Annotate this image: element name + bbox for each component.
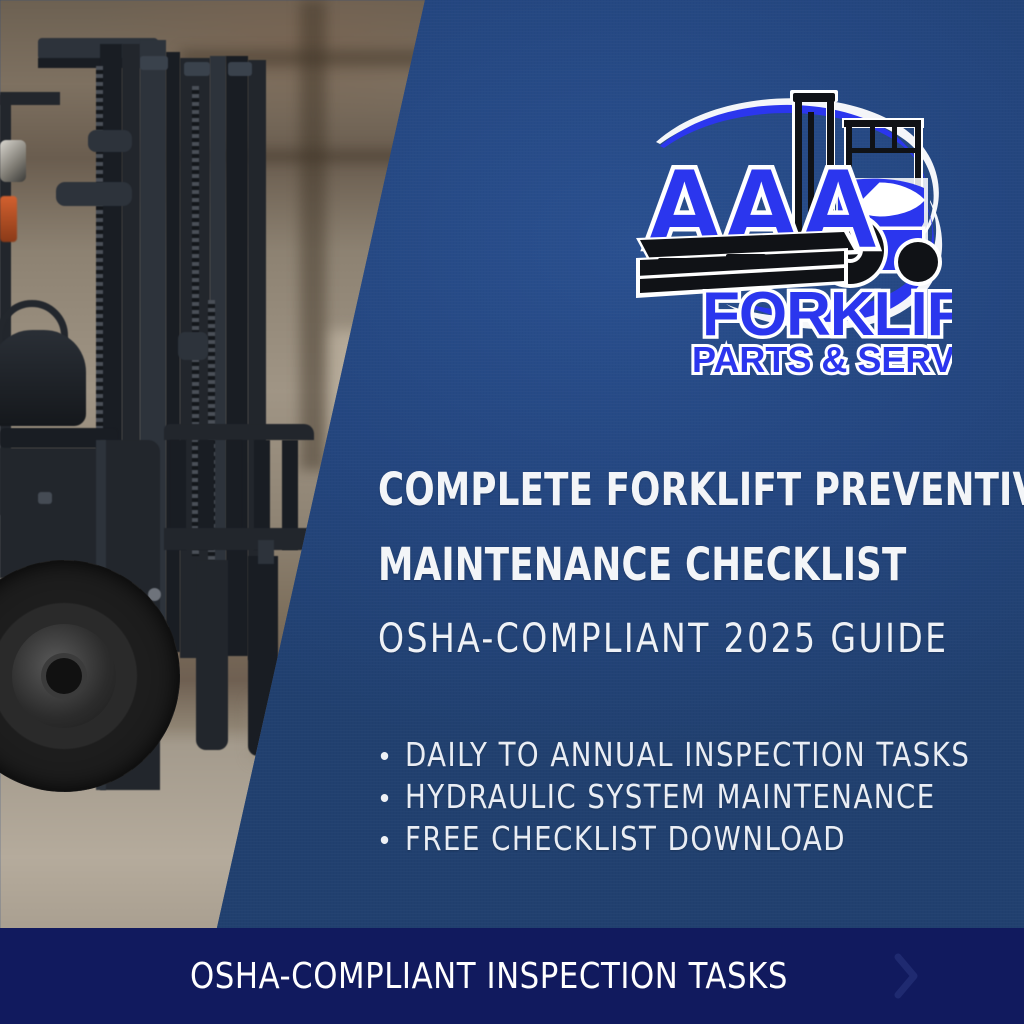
headline-line-2: MAINTENANCE CHECKLIST [378,527,906,602]
page-title: COMPLETE FORKLIFT PREVENTIVE MAINTENANCE… [378,452,906,602]
forklift-beacon-light [0,196,17,242]
headline-line-1: COMPLETE FORKLIFT PREVENTIVE [378,463,1024,516]
list-item: DAILY TO ANNUAL INSPECTION TASKS [378,734,936,776]
forklift-fork-tine [196,560,228,750]
aaa-forklifts-logo[interactable]: .lblue { fill: #2b36ee; } .lblk { fill: … [630,82,952,382]
forklift-mast-bracket [178,332,208,360]
forklift-mast-cap [184,62,210,76]
forklift-mast-bracket [88,130,132,152]
list-item: FREE CHECKLIST DOWNLOAD [378,818,936,860]
forklift-fork-carriage-hook [258,540,274,564]
forklift-headlamp [0,140,26,182]
social-graphic-card: .lblue { fill: #2b36ee; } .lblk { fill: … [0,0,1024,1024]
footer-label: OSHA-COMPLIANT INSPECTION TASKS [190,956,788,997]
forklift-load-backrest-top [164,424,314,440]
hero-copy: COMPLETE FORKLIFT PREVENTIVE MAINTENANCE… [378,452,978,860]
feature-list: DAILY TO ANNUAL INSPECTION TASKS HYDRAUL… [378,734,936,860]
forklift-backrest-rail [164,528,314,550]
footer-bar[interactable]: OSHA-COMPLIANT INSPECTION TASKS [0,928,1024,1024]
list-item: HYDRAULIC SYSTEM MAINTENANCE [378,776,936,818]
subtitle: OSHA-COMPLIANT 2025 GUIDE [378,616,930,662]
warehouse-column [300,0,326,470]
forklift-mast-cap [140,56,168,70]
forklift-decal [38,492,52,504]
forklift-mast-bracket [56,182,132,206]
forklift-wheel-hub [12,624,116,728]
forklift-mast-cap [228,62,252,76]
forklift-body-panel [0,448,100,578]
chevron-right-icon[interactable] [893,953,919,999]
forklift-mast-channel [226,56,248,656]
forklift-operator-seat [0,330,86,426]
svg-text:PARTS & SERVICE: PARTS & SERVICE [692,339,952,380]
